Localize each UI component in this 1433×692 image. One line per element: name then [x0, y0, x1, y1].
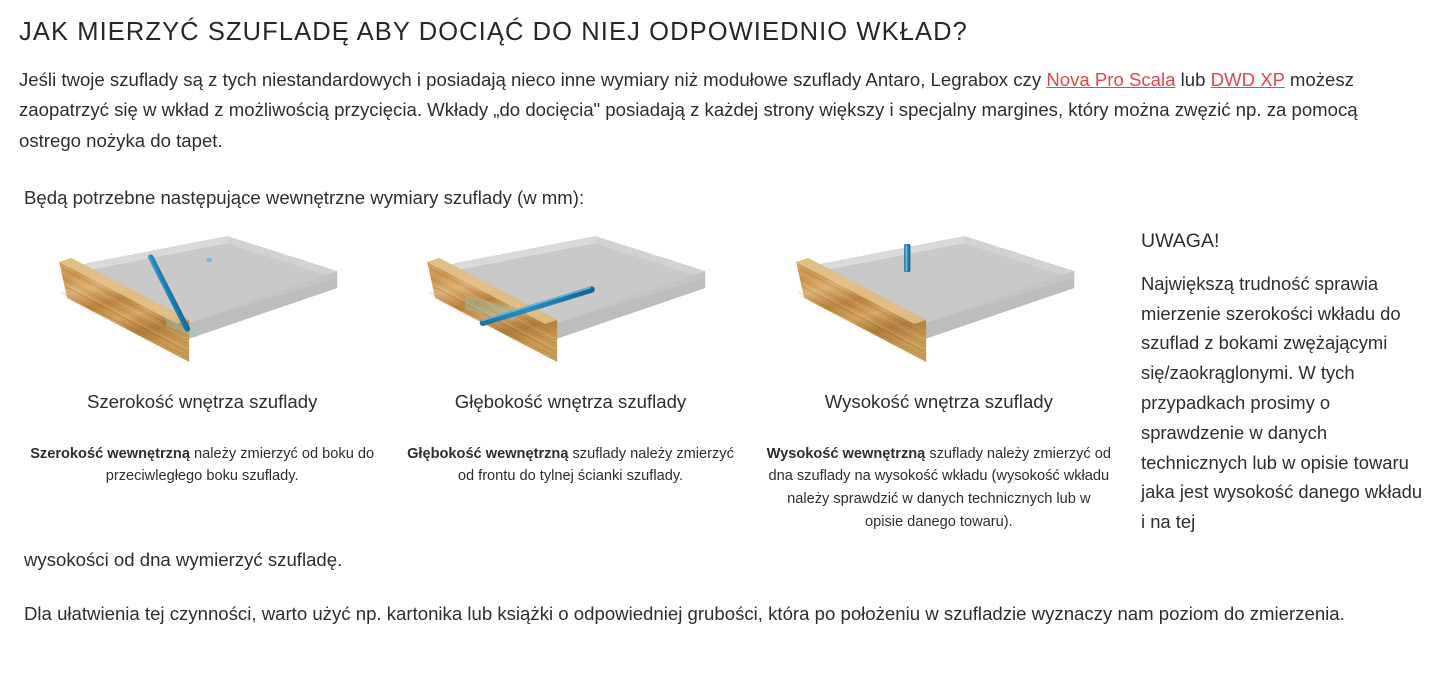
figure-depth-description: Głębokość wewnętrzną szuflady należy zmi…	[398, 443, 743, 489]
figure-height-description: Wysokość wewnętrzną szuflady należy zmie…	[766, 443, 1111, 534]
figure-height-desc-bold: Wysokość wewnętrzną	[767, 446, 926, 462]
drawer-height-diagram	[761, 226, 1117, 376]
figures-and-aside-row: Szerokość wnętrza szuflady Szerokość wew…	[18, 226, 1415, 537]
outro-line-2: Dla ułatwienia tej czynności, warto użyć…	[24, 599, 1414, 629]
outro-line-1: wysokości od dna wymierzyć szufladę.	[24, 545, 1414, 575]
link-nova-pro-scala[interactable]: Nova Pro Scala	[1046, 69, 1175, 90]
figure-height-caption: Wysokość wnętrza szuflady	[825, 390, 1053, 414]
figure-depth-caption: Głębokość wnętrza szuflady	[455, 390, 687, 414]
figure-height: Wysokość wnętrza szuflady Wysokość wewnę…	[755, 226, 1123, 533]
article-page: JAK MIERZYĆ SZUFLADĘ ABY DOCIĄĆ DO NIEJ …	[0, 18, 1433, 692]
warning-aside: UWAGA! Największą trudność sprawia mierz…	[1123, 230, 1423, 537]
warning-title: UWAGA!	[1141, 230, 1423, 253]
figure-depth: Głębokość wnętrza szuflady Głębokość wew…	[386, 226, 754, 533]
figure-width-desc-bold: Szerokość wewnętrzną	[30, 446, 190, 462]
intro-text-part-2: lub	[1176, 69, 1211, 90]
figure-width: Szerokość wnętrza szuflady Szerokość wew…	[18, 226, 386, 533]
lead-paragraph: Będą potrzebne następujące wewnętrzne wy…	[24, 183, 1415, 213]
page-title: JAK MIERZYĆ SZUFLADĘ ABY DOCIĄĆ DO NIEJ …	[19, 18, 1415, 47]
warning-body: Największą trudność sprawia mierzenie sz…	[1141, 269, 1423, 537]
link-dwd-xp[interactable]: DWD XP	[1211, 69, 1285, 90]
figure-depth-desc-bold: Głębokość wewnętrzną	[407, 446, 568, 462]
drawer-width-diagram	[24, 226, 380, 376]
figure-width-caption: Szerokość wnętrza szuflady	[87, 390, 317, 414]
drawer-depth-diagram	[392, 226, 748, 376]
intro-paragraph: Jeśli twoje szuflady są z tych niestanda…	[19, 65, 1379, 155]
figures-group: Szerokość wnętrza szuflady Szerokość wew…	[18, 226, 1123, 533]
figure-width-description: Szerokość wewnętrzną należy zmierzyć od …	[30, 443, 375, 489]
intro-text-part-1: Jeśli twoje szuflady są z tych niestanda…	[19, 69, 1046, 90]
